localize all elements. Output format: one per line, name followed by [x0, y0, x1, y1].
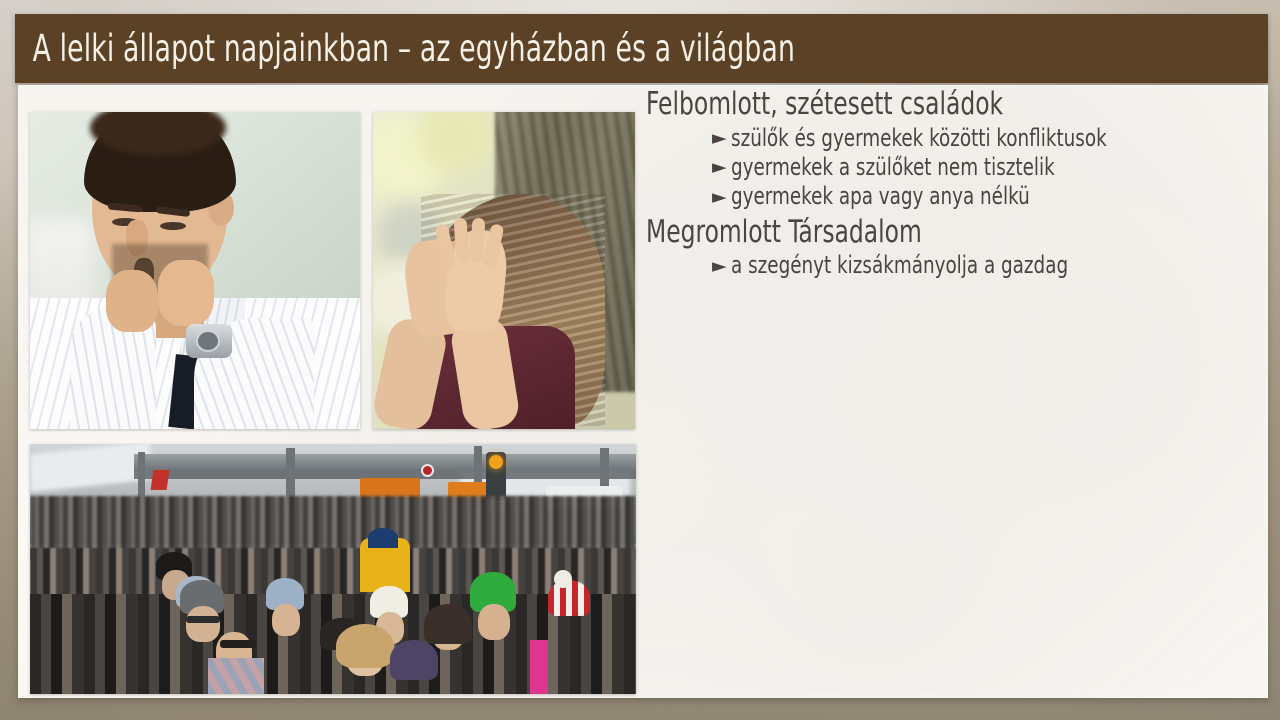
bullet-label: gyermekek apa vagy anya nélkü	[731, 182, 1030, 210]
crowd-head-glasses	[186, 606, 220, 642]
slide-root: A lelki állapot napjainkban – az egyházb…	[0, 0, 1280, 720]
bullet-label: a szegényt kizsákmányolja a gazdag	[731, 251, 1068, 279]
crowd-pink-strap	[530, 640, 548, 694]
crowd-head-2	[272, 604, 300, 636]
crowd-navy-cap	[368, 528, 398, 548]
slide-title-bar: A lelki állapot napjainkban – az egyházb…	[15, 14, 1268, 83]
despairing-woman-photo[interactable]	[373, 112, 635, 429]
man-fist-right	[158, 260, 214, 326]
winter-crowd-photo[interactable]: СТОП	[30, 444, 636, 694]
crowd-red-roundel-sign	[421, 464, 434, 477]
crowd-head-4	[478, 604, 510, 640]
bullet-label: gyermekek a szülőket nem tisztelik	[731, 153, 1055, 181]
page-title: A lelki állapot napjainkban – az egyházb…	[15, 27, 795, 70]
pensive-man-photo[interactable]	[30, 112, 360, 429]
triangle-bullet-icon: ►	[712, 129, 727, 148]
body-section-2: Megromlott Társadalom ► a szegényt kizsá…	[646, 215, 1258, 280]
list-item[interactable]: ► gyermekek apa vagy anya nélkü	[712, 182, 1258, 210]
bullet-list-2: ► a szegényt kizsákmányolja a gazdag	[646, 251, 1258, 279]
man-fist-left	[106, 270, 158, 332]
list-item[interactable]: ► gyermekek a szülőket nem tisztelik	[712, 153, 1258, 181]
crowd-scarf	[208, 658, 264, 694]
crowd-purple-hat	[390, 640, 438, 680]
traffic-light-amber-lamp	[489, 455, 503, 469]
man-eye-right	[160, 222, 186, 230]
triangle-bullet-icon: ►	[712, 158, 727, 177]
bullet-list-1: ► szülők és gyermekek közötti konfliktus…	[646, 124, 1258, 211]
list-item[interactable]: ► a szegényt kizsákmányolja a gazdag	[712, 251, 1258, 279]
section-heading-2: Megromlott Társadalom	[646, 215, 1160, 250]
body-section-1: Felbomlott, szétesett családok ► szülők …	[646, 87, 1258, 211]
list-item[interactable]: ► szülők és gyermekek közötti konfliktus…	[712, 124, 1258, 152]
bullet-label: szülők és gyermekek közötti konfliktusok	[731, 124, 1107, 152]
triangle-bullet-icon: ►	[712, 188, 727, 207]
triangle-bullet-icon: ►	[712, 257, 727, 276]
crowd-blonde-hair	[336, 624, 394, 668]
crowd-eyeglasses	[186, 616, 220, 623]
crowd-overpass	[134, 454, 636, 470]
man-wristwatch-face	[196, 330, 220, 352]
section-heading-1: Felbomlott, szétesett családok	[646, 87, 1160, 122]
slide-body-text: Felbomlott, szétesett családok ► szülők …	[646, 85, 1258, 284]
crowd-eyeglasses-2	[220, 640, 256, 648]
crowd-beanie-pompom	[554, 570, 572, 588]
slide-content-panel: СТОП	[18, 85, 1268, 698]
crowd-dark-hair	[424, 604, 472, 644]
crowd-red-flag	[151, 470, 170, 490]
